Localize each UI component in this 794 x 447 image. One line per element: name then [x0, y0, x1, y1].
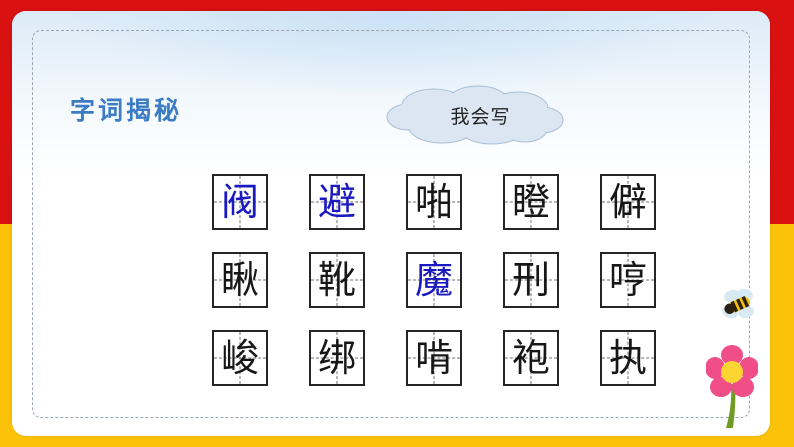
character-grid-row: 瞅 靴 魔 刑 — [212, 252, 656, 308]
character-cell[interactable]: 峻 — [212, 330, 268, 386]
slide-canvas: 字词揭秘 — [0, 0, 794, 447]
character-glyph: 靴 — [311, 254, 363, 306]
character-grid-row: 阀 避 啪 瞪 — [212, 174, 656, 230]
character-cell[interactable]: 阀 — [212, 174, 268, 230]
character-cell[interactable]: 哼 — [600, 252, 656, 308]
content-panel: 字词揭秘 — [12, 11, 770, 436]
character-glyph: 啃 — [408, 332, 460, 384]
cloud-callout-label: 我会写 — [382, 84, 567, 146]
character-glyph: 哼 — [602, 254, 654, 306]
character-glyph: 袍 — [505, 332, 557, 384]
character-grid: 阀 避 啪 瞪 — [212, 174, 656, 386]
character-glyph: 避 — [311, 176, 363, 228]
character-grid-row: 峻 绑 啃 袍 — [212, 330, 656, 386]
character-cell[interactable]: 魔 — [406, 252, 462, 308]
page-title: 字词揭秘 — [70, 91, 182, 127]
character-glyph: 阀 — [214, 176, 266, 228]
character-glyph: 执 — [602, 332, 654, 384]
character-glyph: 绑 — [311, 332, 363, 384]
character-glyph: 刑 — [505, 254, 557, 306]
character-cell[interactable]: 啪 — [406, 174, 462, 230]
character-cell[interactable]: 靴 — [309, 252, 365, 308]
character-cell[interactable]: 绑 — [309, 330, 365, 386]
character-cell[interactable]: 避 — [309, 174, 365, 230]
flower-icon — [706, 344, 758, 429]
character-glyph: 峻 — [214, 332, 266, 384]
character-glyph: 瞅 — [214, 254, 266, 306]
character-glyph: 魔 — [408, 254, 460, 306]
cloud-callout: 我会写 — [382, 84, 567, 146]
character-cell[interactable]: 啃 — [406, 330, 462, 386]
character-glyph: 僻 — [602, 176, 654, 228]
character-cell[interactable]: 瞪 — [503, 174, 559, 230]
character-glyph: 啪 — [408, 176, 460, 228]
character-cell[interactable]: 瞅 — [212, 252, 268, 308]
character-glyph: 瞪 — [505, 176, 557, 228]
bee-icon — [718, 288, 756, 320]
character-cell[interactable]: 僻 — [600, 174, 656, 230]
character-cell[interactable]: 刑 — [503, 252, 559, 308]
character-cell[interactable]: 袍 — [503, 330, 559, 386]
character-cell[interactable]: 执 — [600, 330, 656, 386]
